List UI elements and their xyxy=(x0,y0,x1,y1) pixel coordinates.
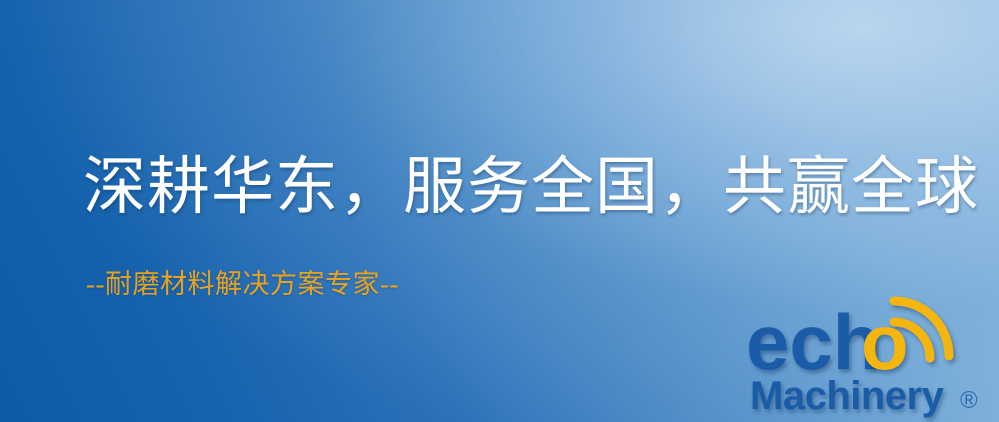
promo-banner: 深耕华东，服务全国，共赢全球 --耐磨材料解决方案专家-- ech o Mach… xyxy=(0,0,999,422)
echo-machinery-logo[interactable]: ech o Machinery ® xyxy=(744,296,994,420)
logo-tagline: Machinery xyxy=(750,374,945,418)
logo-wordmark-o: o xyxy=(861,298,909,386)
logo-wordmark-o-text: o xyxy=(861,298,909,386)
logo-tagline-text: Machinery xyxy=(750,374,945,418)
registered-trademark-icon: ® xyxy=(960,387,978,414)
banner-subtitle: --耐磨材料解决方案专家-- xyxy=(86,268,399,300)
banner-headline: 深耕华东，服务全国，共赢全球 xyxy=(83,152,943,222)
